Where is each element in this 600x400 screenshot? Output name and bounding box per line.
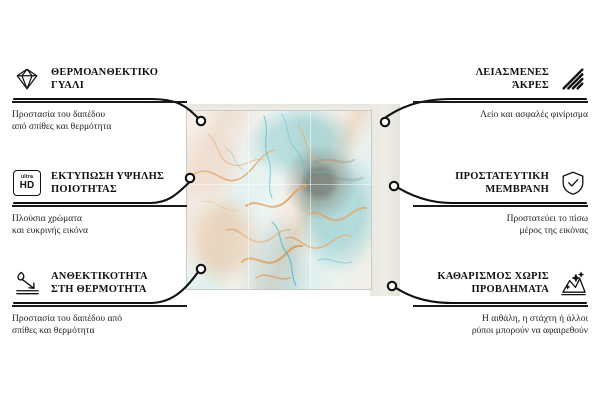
feature-divider xyxy=(12,205,187,207)
ultra-hd-bottom-label: HD xyxy=(20,181,35,191)
feature-protective-membrane: ΠΡΟΣΤΑΤΕΥΤΙΚΗ ΜΕΜΒΡΑΝΗ Προστατεύει το πί… xyxy=(413,166,588,238)
feature-title: ΕΚΤΥΠΩΣΗ ΥΨΗΛΗΣ ΠΟΙΟΤΗΤΑΣ xyxy=(51,170,164,196)
easy-clean-sparkle-icon xyxy=(558,268,588,298)
feature-header: ΘΕΡΜΟΑΝΘΕΚΤΙΚΟ ΓΥΑΛΙ xyxy=(12,62,187,96)
feature-divider xyxy=(12,305,187,307)
feature-high-quality-print: ultra HD ΕΚΤΥΠΩΣΗ ΥΨΗΛΗΣ ΠΟΙΟΤΗΤΑΣ Πλούσ… xyxy=(12,166,187,238)
glass-reflection-line xyxy=(186,184,372,185)
feature-description: Η αιθάλη, η στάχτη ή άλλοι ρύποι μπορούν… xyxy=(413,313,588,338)
polished-edges-icon xyxy=(558,64,588,94)
shield-check-icon xyxy=(558,168,588,198)
product-image xyxy=(186,110,372,290)
feature-title: ΚΑΘΑΡΙΣΜΟΣ ΧΩΡΙΣ ΠΡΟΒΛΗΜΑΤΑ xyxy=(437,270,549,296)
product-infographic: ΘΕΡΜΟΑΝΘΕΚΤΙΚΟ ΓΥΑΛΙ Προστασία του δαπέδ… xyxy=(0,0,600,400)
feature-heat-durability: ΑΝΘΕΚΤΙΚΟΤΗΤΑ ΣΤΗ ΘΕΡΜΟΤΗΤΑ Προστασία το… xyxy=(12,266,187,338)
feature-header: ΚΑΘΑΡΙΣΜΟΣ ΧΩΡΙΣ ΠΡΟΒΛΗΜΑΤΑ xyxy=(413,266,588,300)
feature-header: ultra HD ΕΚΤΥΠΩΣΗ ΥΨΗΛΗΣ ΠΟΙΟΤΗΤΑΣ xyxy=(12,166,187,200)
feature-title: ΛΕΙΑΣΜΕΝΕΣ ΆΚΡΕΣ xyxy=(476,66,549,92)
feature-divider xyxy=(413,205,588,207)
feature-header: ΠΡΟΣΤΑΤΕΥΤΙΚΗ ΜΕΜΒΡΑΝΗ xyxy=(413,166,588,200)
feature-header: ΑΝΘΕΚΤΙΚΟΤΗΤΑ ΣΤΗ ΘΕΡΜΟΤΗΤΑ xyxy=(12,266,187,300)
glass-reflection-line xyxy=(310,110,311,290)
diamond-icon xyxy=(12,64,42,94)
flame-deflect-icon xyxy=(12,268,42,298)
feature-easy-cleaning: ΚΑΘΑΡΙΣΜΟΣ ΧΩΡΙΣ ΠΡΟΒΛΗΜΑΤΑ Η αιθάλη, η … xyxy=(413,266,588,338)
feature-description: Προστασία του δαπέδου από σπίθες και θερ… xyxy=(12,313,187,338)
feature-heat-resistant-glass: ΘΕΡΜΟΑΝΘΕΚΤΙΚΟ ΓΥΑΛΙ Προστασία του δαπέδ… xyxy=(12,62,187,134)
feature-divider xyxy=(413,305,588,307)
feature-divider xyxy=(12,101,187,103)
feature-header: ΛΕΙΑΣΜΕΝΕΣ ΆΚΡΕΣ xyxy=(413,62,588,96)
feature-description: Προστασία του δαπέδου από σπίθες και θερ… xyxy=(12,109,187,134)
feature-polished-edges: ΛΕΙΑΣΜΕΝΕΣ ΆΚΡΕΣ Λείο και ασφαλές φινίρι… xyxy=(413,62,588,121)
feature-description: Προστατεύει το πίσω μέρος της εικόνας xyxy=(413,213,588,238)
feature-description: Λείο και ασφαλές φινίρισμα xyxy=(413,109,588,122)
ultra-hd-icon: ultra HD xyxy=(12,168,42,198)
product-side-panel xyxy=(370,104,400,296)
feature-title: ΠΡΟΣΤΑΤΕΥΤΙΚΗ ΜΕΜΒΡΑΝΗ xyxy=(455,170,549,196)
product-artwork-veins xyxy=(186,110,372,290)
glass-reflection-line xyxy=(248,110,249,290)
feature-title: ΑΝΘΕΚΤΙΚΟΤΗΤΑ ΣΤΗ ΘΕΡΜΟΤΗΤΑ xyxy=(51,270,148,296)
feature-divider xyxy=(413,101,588,103)
feature-title: ΘΕΡΜΟΑΝΘΕΚΤΙΚΟ ΓΥΑΛΙ xyxy=(51,66,158,92)
feature-description: Πλούσια χρώματα και ευκρινής εικόνα xyxy=(12,213,187,238)
